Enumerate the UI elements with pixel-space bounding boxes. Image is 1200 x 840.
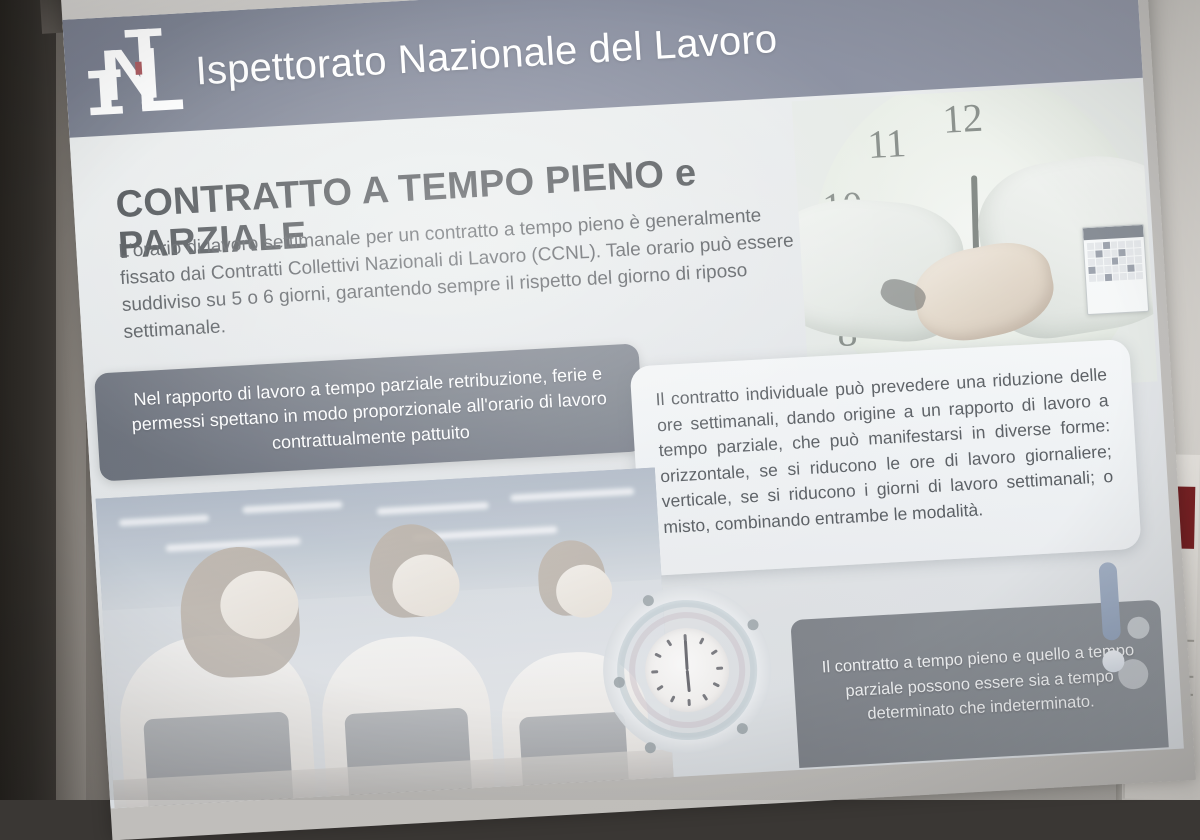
white-info-card: Il contratto individuale può prevedere u… bbox=[630, 339, 1142, 577]
mini-calendar-icon bbox=[1082, 224, 1149, 315]
decorative-bead bbox=[1127, 616, 1150, 639]
blue-callout-text: Nel rapporto di lavoro a tempo parziale … bbox=[95, 359, 644, 465]
room-background: TINT E A bbox=[0, 0, 1200, 800]
white-card-text: Il contratto individuale può prevedere u… bbox=[655, 362, 1116, 540]
factory-workers-image bbox=[96, 468, 674, 809]
organization-name: Ispettorato Nazionale del Lavoro bbox=[194, 17, 778, 94]
projection-screen: Ispettorato Nazionale del Lavoro 12 11 1… bbox=[60, 0, 1196, 840]
projection-screen-area: Ispettorato Nazionale del Lavoro 12 11 1… bbox=[0, 0, 1200, 800]
inl-logo-icon bbox=[79, 18, 193, 132]
blue-callout-box: Nel rapporto di lavoro a tempo parziale … bbox=[94, 343, 645, 481]
wall-clock-graphic bbox=[598, 582, 776, 759]
presentation-slide: Ispettorato Nazionale del Lavoro 12 11 1… bbox=[62, 0, 1184, 808]
